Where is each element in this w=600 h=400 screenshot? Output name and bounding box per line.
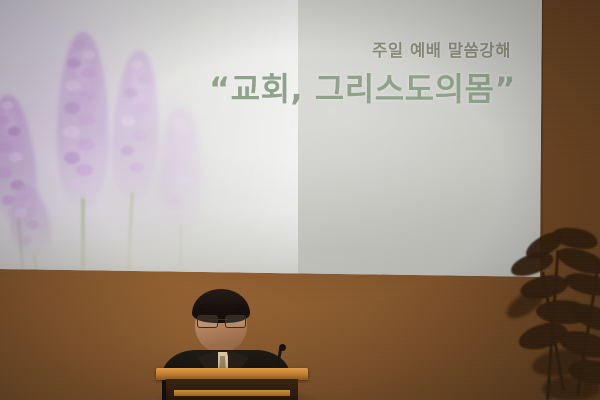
wooden-podium [156, 368, 308, 400]
slide-text-block: 주일 예배 말씀강해 “교회, 그리스도의몸” [0, 0, 542, 282]
slide-headline: “교회, 그리스도의몸” [209, 72, 516, 108]
headline-prefix: “교회, 그리 [209, 70, 375, 108]
headline-underlined: 스도의 [375, 70, 465, 108]
slide-kicker: 주일 예배 말씀강해 [372, 37, 511, 61]
podium-ledge [174, 390, 290, 396]
projection-screen: 주일 예배 말씀강해 “교회, 그리스도의몸” [0, 0, 542, 282]
sermon-photo-scene: 주일 예배 말씀강해 “교회, 그리스도의몸” [0, 0, 600, 400]
eyeglasses-icon [197, 315, 246, 326]
headline-suffix: 몸” [465, 70, 516, 108]
microphone-icon [279, 344, 286, 351]
